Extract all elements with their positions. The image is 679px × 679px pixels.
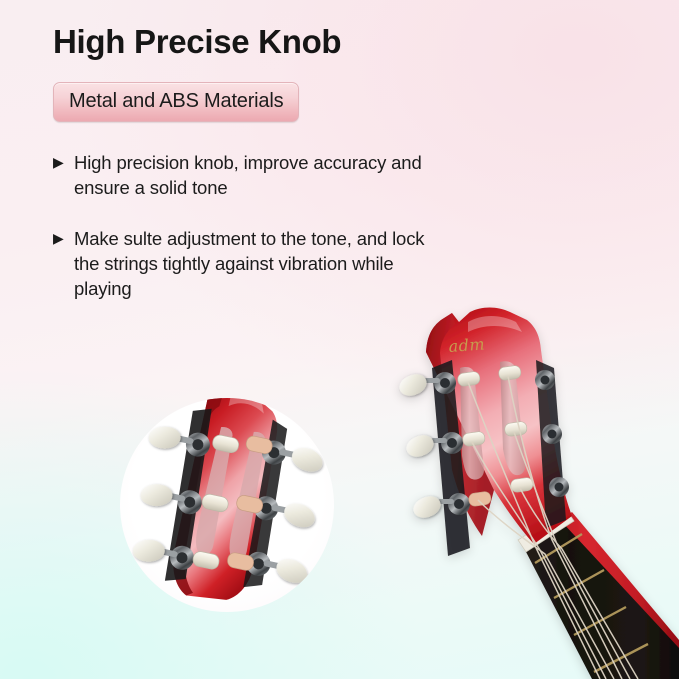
inset-tuner-right-1 [259, 436, 327, 477]
tuner-left-1 [396, 370, 456, 399]
triangle-right-icon: ▶ [53, 226, 70, 251]
inset-tuner-left-1 [144, 420, 212, 461]
string-posts [457, 365, 534, 507]
feature-list: ▶ High precision knob, improve accuracy … [53, 150, 473, 301]
inset-tuner-left-3 [128, 533, 196, 574]
page-title: High Precise Knob [53, 24, 473, 61]
list-item-text: Make sulte adjustment to the tone, and l… [74, 226, 454, 301]
tuner-right-1 [535, 370, 555, 390]
headstock-slots [460, 361, 525, 479]
guitar-frets [535, 534, 648, 672]
inset-tuner-left-2 [136, 478, 204, 519]
badge-container: Metal and ABS Materials [53, 82, 299, 122]
copy-block: High Precise Knob Metal and ABS Material… [53, 24, 473, 327]
list-item: ▶ Make sulte adjustment to the tone, and… [53, 226, 473, 301]
materials-badge: Metal and ABS Materials [53, 82, 299, 122]
inset-string-posts [187, 428, 279, 577]
main-headstock-photo: adm [396, 308, 679, 679]
tuner-left-2 [403, 431, 463, 460]
inset-tuner-right-2 [252, 492, 320, 533]
inset-content [116, 372, 344, 619]
list-item: ▶ High precision knob, improve accuracy … [53, 150, 473, 200]
knob-closeup-inset [116, 372, 344, 619]
tuning-machines-left [396, 360, 470, 556]
list-item-text: High precision knob, improve accuracy an… [74, 150, 454, 200]
tuning-machines-right [535, 360, 569, 528]
brand-logo-text: adm [448, 334, 486, 355]
inset-tuner-right-3 [244, 548, 312, 589]
product-feature-image: adm [0, 0, 679, 679]
tuner-left-3 [410, 492, 470, 521]
guitar-nut [518, 509, 574, 552]
triangle-right-icon: ▶ [53, 150, 70, 175]
guitar-strings [468, 376, 638, 679]
tuner-right-3 [549, 477, 569, 497]
tuner-right-2 [542, 424, 562, 444]
guitar-neck [524, 512, 679, 679]
inset-circle-background [120, 398, 334, 612]
headstock-face [426, 308, 572, 545]
